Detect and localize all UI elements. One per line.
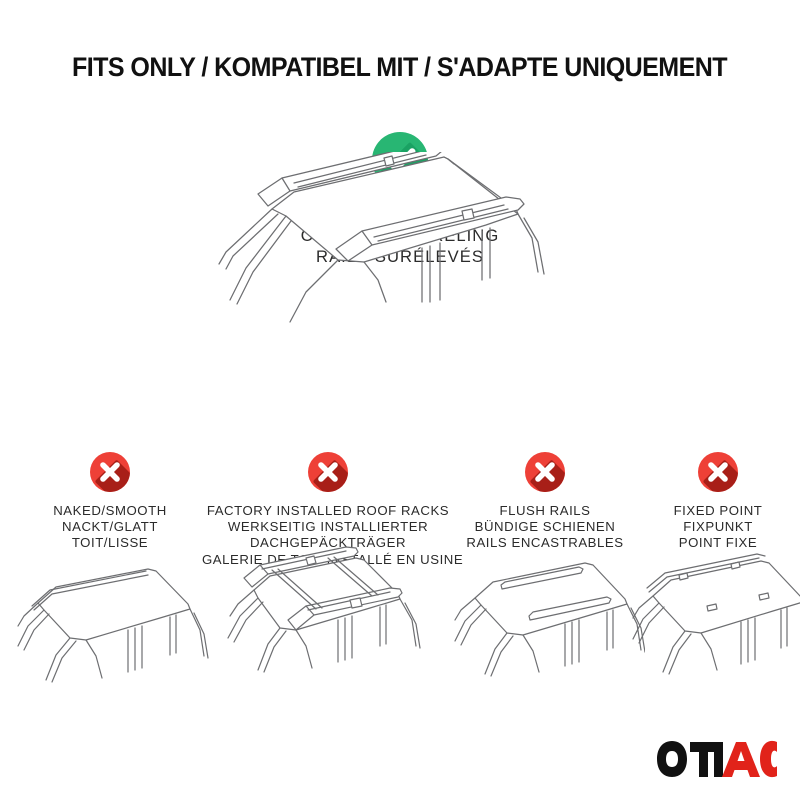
cross-circle-icon <box>525 452 565 492</box>
car-roof-flush-rails-illustration <box>445 552 645 692</box>
omac-logo: OMAC <box>656 740 778 778</box>
denied-4-label-en: FIXED POINT <box>636 503 800 519</box>
incompatible-item-fixed-point: FIXED POINT FIXPUNKT POINT FIXE <box>636 452 800 552</box>
denied-1-label-fr: TOIT/LISSE <box>8 535 212 551</box>
cross-circle-icon <box>90 452 130 492</box>
car-roof-with-raised-rails-illustration <box>186 152 616 327</box>
incompatible-item-naked-smooth: NAKED/SMOOTH NACKT/GLATT TOIT/LISSE <box>8 452 212 552</box>
denied-badge-2 <box>308 452 348 492</box>
incompatible-item-flush-rails: FLUSH RAILS BÜNDIGE SCHIENEN RAILS ENCAS… <box>452 452 638 552</box>
denied-badge-1 <box>90 452 130 492</box>
incompatible-row: NAKED/SMOOTH NACKT/GLATT TOIT/LISSE <box>0 452 800 712</box>
cross-circle-icon <box>308 452 348 492</box>
denied-4-label-de: FIXPUNKT <box>636 519 800 535</box>
denied-labels-3: FLUSH RAILS BÜNDIGE SCHIENEN RAILS ENCAS… <box>452 503 638 552</box>
cross-circle-icon <box>698 452 738 492</box>
denied-3-label-fr: RAILS ENCASTRABLES <box>452 535 638 551</box>
car-roof-naked-smooth-illustration <box>10 560 210 695</box>
denied-1-label-en: NAKED/SMOOTH <box>8 503 212 519</box>
denied-labels-4: FIXED POINT FIXPUNKT POINT FIXE <box>636 503 800 552</box>
page-title: FITS ONLY / KOMPATIBEL MIT / S'ADAPTE UN… <box>73 52 728 83</box>
denied-badge-4 <box>698 452 738 492</box>
denied-2-label-en: FACTORY INSTALLED ROOF RACKS <box>202 503 454 519</box>
denied-3-label-de: BÜNDIGE SCHIENEN <box>452 519 638 535</box>
denied-badge-3 <box>525 452 565 492</box>
denied-2-label-de-1: WERKSEITIG INSTALLIERTER <box>202 519 454 535</box>
denied-1-label-de: NACKT/GLATT <box>8 519 212 535</box>
incompatible-item-factory-racks: FACTORY INSTALLED ROOF RACKS WERKSEITIG … <box>202 452 454 568</box>
denied-3-label-en: FLUSH RAILS <box>452 503 638 519</box>
car-roof-factory-installed-roof-racks-illustration <box>210 546 446 696</box>
car-roof-fixed-point-illustration <box>623 548 800 693</box>
page-title-bar: FITS ONLY / KOMPATIBEL MIT / S'ADAPTE UN… <box>0 52 800 83</box>
denied-labels-1: NAKED/SMOOTH NACKT/GLATT TOIT/LISSE <box>8 503 212 552</box>
